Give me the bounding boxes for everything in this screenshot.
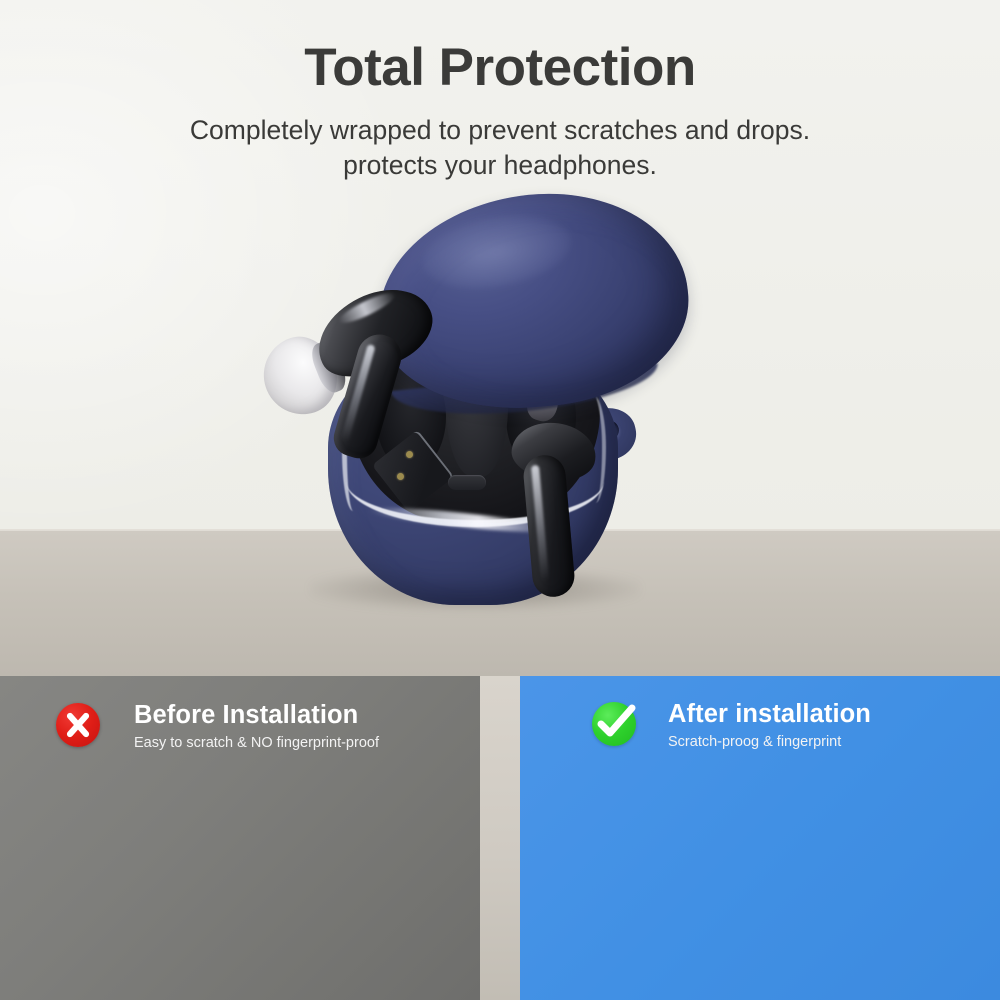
page-subtitle-line-2: protects your headphones. bbox=[0, 148, 1000, 183]
product-open-case-with-earbuds bbox=[250, 195, 730, 665]
page-subtitle: Completely wrapped to prevent scratches … bbox=[0, 113, 1000, 183]
after-installation-subtitle: Scratch-proog & fingerprint bbox=[668, 734, 841, 750]
after-installation-heading: After installation bbox=[668, 700, 871, 729]
earbud-seated-right bbox=[498, 423, 618, 613]
page-title: Total Protection bbox=[0, 40, 1000, 96]
hero-section: Total Protection Completely wrapped to p… bbox=[0, 0, 1000, 676]
check-icon bbox=[592, 702, 636, 746]
before-installation-subtitle: Easy to scratch & NO fingerprint-proof bbox=[134, 735, 379, 751]
cross-icon bbox=[56, 703, 100, 747]
product-infographic: Total Protection Completely wrapped to p… bbox=[0, 0, 1000, 1000]
page-subtitle-line-1: Completely wrapped to prevent scratches … bbox=[0, 113, 1000, 148]
before-installation-heading: Before Installation bbox=[134, 701, 358, 730]
panel-divider bbox=[480, 676, 520, 1000]
earbud-floating-left bbox=[258, 287, 468, 457]
charging-pin bbox=[397, 473, 404, 480]
